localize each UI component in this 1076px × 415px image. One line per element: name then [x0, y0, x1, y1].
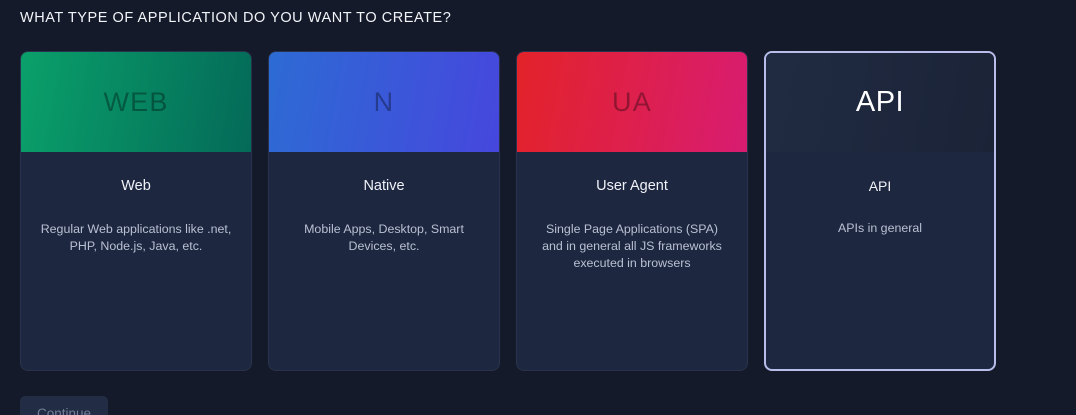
app-type-card-api[interactable]: API API APIs in general	[764, 51, 996, 371]
footer-actions: Continue	[20, 396, 108, 415]
card-banner-native: N	[269, 52, 499, 152]
card-banner-user-agent: UA	[517, 52, 747, 152]
card-title-web: Web	[35, 178, 237, 195]
card-title-user-agent: User Agent	[531, 178, 733, 195]
card-body-user-agent: User Agent Single Page Applications (SPA…	[517, 152, 747, 370]
continue-button[interactable]: Continue	[20, 396, 108, 415]
card-title-native: Native	[283, 178, 485, 195]
card-description-native: Mobile Apps, Desktop, Smart Devices, etc…	[283, 221, 485, 255]
application-type-chooser-page: WHAT TYPE OF APPLICATION DO YOU WANT TO …	[0, 0, 1076, 415]
card-abbr-native: N	[374, 89, 395, 116]
application-type-card-list: WEB Web Regular Web applications like .n…	[20, 51, 996, 371]
app-type-card-native[interactable]: N Native Mobile Apps, Desktop, Smart Dev…	[268, 51, 500, 371]
page-title: WHAT TYPE OF APPLICATION DO YOU WANT TO …	[20, 10, 451, 26]
card-title-api: API	[780, 178, 980, 195]
card-description-web: Regular Web applications like .net, PHP,…	[35, 221, 237, 255]
app-type-card-web[interactable]: WEB Web Regular Web applications like .n…	[20, 51, 252, 371]
card-abbr-web: WEB	[103, 89, 168, 116]
card-banner-api: API	[766, 53, 994, 152]
card-description-api: APIs in general	[780, 220, 980, 237]
card-body-api: API APIs in general	[766, 152, 994, 369]
card-body-native: Native Mobile Apps, Desktop, Smart Devic…	[269, 152, 499, 370]
card-description-user-agent: Single Page Applications (SPA) and in ge…	[531, 221, 733, 272]
card-banner-web: WEB	[21, 52, 251, 152]
card-abbr-user-agent: UA	[612, 89, 652, 116]
app-type-card-user-agent[interactable]: UA User Agent Single Page Applications (…	[516, 51, 748, 371]
card-abbr-api: API	[856, 88, 904, 117]
card-body-web: Web Regular Web applications like .net, …	[21, 152, 251, 370]
